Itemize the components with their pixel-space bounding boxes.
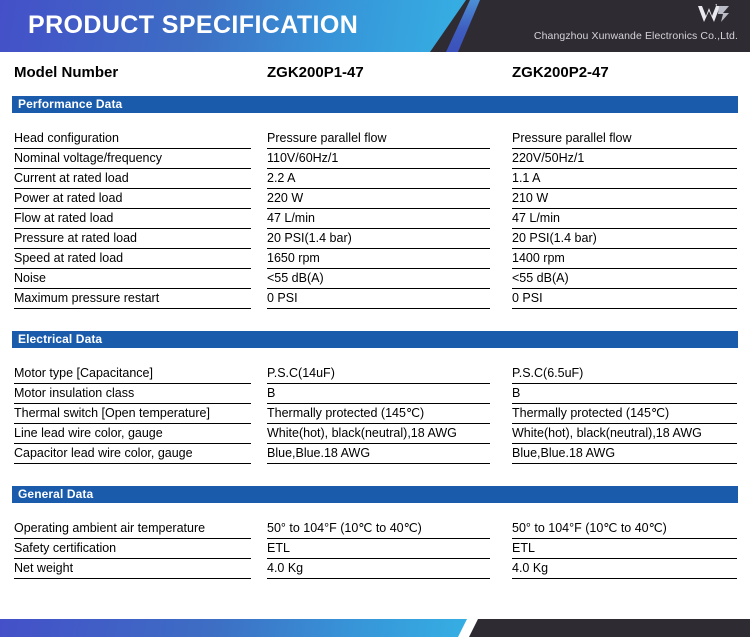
row-value-col1: 110V/60Hz/1	[267, 149, 490, 169]
row-value-col2: 50° to 104°F (10℃ to 40℃)	[512, 519, 737, 539]
row-value-col1: Blue,Blue.18 AWG	[267, 444, 490, 464]
table-row: Flow at rated load 47 L/min 47 L/min	[0, 209, 750, 229]
table-row: Thermal switch [Open temperature] Therma…	[0, 404, 750, 424]
row-label: Line lead wire color, gauge	[14, 424, 251, 444]
row-label: Net weight	[14, 559, 251, 579]
row-value-col2: 1400 rpm	[512, 249, 737, 269]
row-label: Nominal voltage/frequency	[14, 149, 251, 169]
table-row: Operating ambient air temperature 50° to…	[0, 519, 750, 539]
row-value-col2: Thermally protected (145℃)	[512, 404, 737, 424]
section-header-general-data: General Data	[12, 486, 738, 503]
row-label: Current at rated load	[14, 169, 251, 189]
section-header-performance-data: Performance Data	[12, 96, 738, 113]
section-header-electrical-data: Electrical Data	[12, 331, 738, 348]
row-label: Motor insulation class	[14, 384, 251, 404]
row-value-col2: 47 L/min	[512, 209, 737, 229]
company-name: Changzhou Xunwande Electronics Co.,Ltd.	[534, 30, 738, 42]
row-value-col1: 20 PSI(1.4 bar)	[267, 229, 490, 249]
row-label: Noise	[14, 269, 251, 289]
row-value-col1: 220 W	[267, 189, 490, 209]
row-label: Pressure at rated load	[14, 229, 251, 249]
row-label: Maximum pressure restart	[14, 289, 251, 309]
spacer	[0, 348, 750, 364]
row-label: Flow at rated load	[14, 209, 251, 229]
row-label: Thermal switch [Open temperature]	[14, 404, 251, 424]
section-rows-performance-data: Head configuration Pressure parallel flo…	[0, 129, 750, 309]
table-row: Nominal voltage/frequency 110V/60Hz/1 22…	[0, 149, 750, 169]
table-row: Capacitor lead wire color, gauge Blue,Bl…	[0, 444, 750, 464]
model-number-col1: ZGK200P1-47	[267, 64, 364, 81]
section-rows-electrical-data: Motor type [Capacitance] P.S.C(14uF) P.S…	[0, 364, 750, 464]
row-label: Motor type [Capacitance]	[14, 364, 251, 384]
row-label: Power at rated load	[14, 189, 251, 209]
row-value-col1: <55 dB(A)	[267, 269, 490, 289]
row-value-col1: 4.0 Kg	[267, 559, 490, 579]
row-value-col2: Pressure parallel flow	[512, 129, 737, 149]
row-value-col2: 4.0 Kg	[512, 559, 737, 579]
table-row: Head configuration Pressure parallel flo…	[0, 129, 750, 149]
row-label: Head configuration	[14, 129, 251, 149]
row-value-col2: White(hot), black(neutral),18 AWG	[512, 424, 737, 444]
section-title: Performance Data	[18, 97, 122, 111]
row-value-col2: 1.1 A	[512, 169, 737, 189]
section-title: Electrical Data	[18, 332, 102, 346]
row-value-col1: 0 PSI	[267, 289, 490, 309]
row-value-col1: 50° to 104°F (10℃ to 40℃)	[267, 519, 490, 539]
model-number-row: Model Number ZGK200P1-47 ZGK200P2-47	[0, 52, 750, 96]
table-row: Motor type [Capacitance] P.S.C(14uF) P.S…	[0, 364, 750, 384]
row-value-col2: 210 W	[512, 189, 737, 209]
spacer	[0, 309, 750, 331]
model-number-col2: ZGK200P2-47	[512, 64, 609, 81]
section-rows-general-data: Operating ambient air temperature 50° to…	[0, 519, 750, 579]
row-label: Speed at rated load	[14, 249, 251, 269]
table-row: Noise <55 dB(A) <55 dB(A)	[0, 269, 750, 289]
footer-gradient-band	[0, 619, 472, 637]
table-row: Net weight 4.0 Kg 4.0 Kg	[0, 559, 750, 579]
table-row: Current at rated load 2.2 A 1.1 A	[0, 169, 750, 189]
table-row: Safety certification ETL ETL	[0, 539, 750, 559]
model-number-label: Model Number	[14, 64, 118, 81]
row-value-col1: Thermally protected (145℃)	[267, 404, 490, 424]
row-value-col2: 220V/50Hz/1	[512, 149, 737, 169]
spacer	[0, 464, 750, 486]
row-label: Operating ambient air temperature	[14, 519, 251, 539]
row-value-col2: 20 PSI(1.4 bar)	[512, 229, 737, 249]
row-label: Safety certification	[14, 539, 251, 559]
row-label: Capacitor lead wire color, gauge	[14, 444, 251, 464]
row-value-col1: P.S.C(14uF)	[267, 364, 490, 384]
section-title: General Data	[18, 487, 93, 501]
row-value-col1: 2.2 A	[267, 169, 490, 189]
row-value-col1: ETL	[267, 539, 490, 559]
spacer	[0, 503, 750, 519]
table-row: Pressure at rated load 20 PSI(1.4 bar) 2…	[0, 229, 750, 249]
row-value-col2: B	[512, 384, 737, 404]
row-value-col1: 47 L/min	[267, 209, 490, 229]
table-row: Line lead wire color, gauge White(hot), …	[0, 424, 750, 444]
specification-table: Model Number ZGK200P1-47 ZGK200P2-47 Per…	[0, 52, 750, 579]
page-title: PRODUCT SPECIFICATION	[28, 11, 358, 40]
row-value-col1: B	[267, 384, 490, 404]
w-logo-icon	[696, 3, 734, 27]
row-value-col2: ETL	[512, 539, 737, 559]
table-row: Speed at rated load 1650 rpm 1400 rpm	[0, 249, 750, 269]
row-value-col1: White(hot), black(neutral),18 AWG	[267, 424, 490, 444]
table-row: Motor insulation class B B	[0, 384, 750, 404]
row-value-col2: Blue,Blue.18 AWG	[512, 444, 737, 464]
row-value-col2: <55 dB(A)	[512, 269, 737, 289]
row-value-col2: P.S.C(6.5uF)	[512, 364, 737, 384]
table-row: Power at rated load 220 W 210 W	[0, 189, 750, 209]
product-specification-page: PRODUCT SPECIFICATION Changzhou Xunwande…	[0, 0, 750, 637]
table-row: Maximum pressure restart 0 PSI 0 PSI	[0, 289, 750, 309]
row-value-col2: 0 PSI	[512, 289, 737, 309]
page-header: PRODUCT SPECIFICATION Changzhou Xunwande…	[0, 0, 750, 52]
row-value-col1: 1650 rpm	[267, 249, 490, 269]
spacer	[0, 113, 750, 129]
page-footer	[0, 619, 750, 637]
row-value-col1: Pressure parallel flow	[267, 129, 490, 149]
